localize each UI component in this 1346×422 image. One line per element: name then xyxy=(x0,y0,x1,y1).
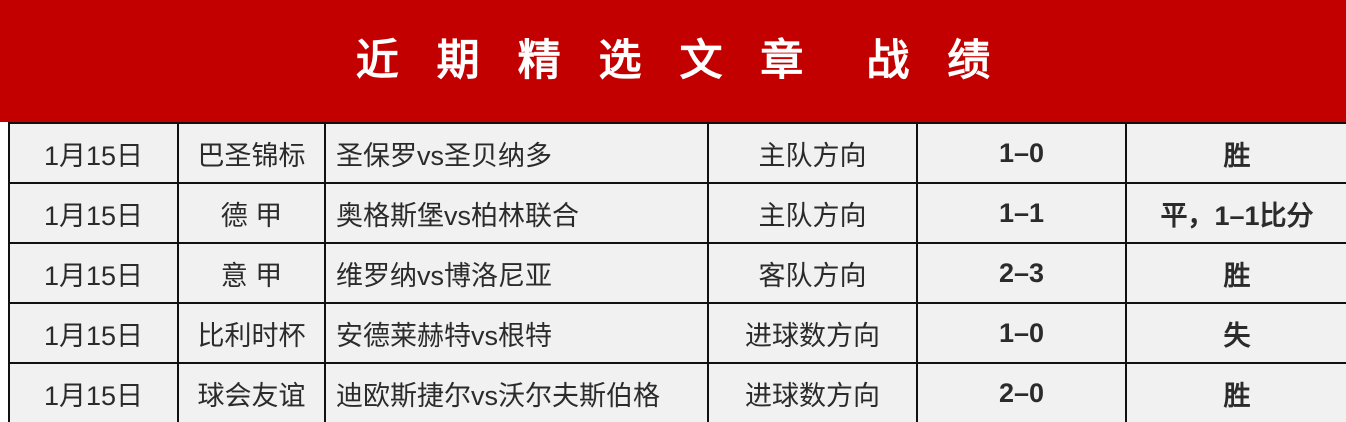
cell-date: 1月15日 xyxy=(9,303,178,363)
cell-result: 胜 xyxy=(1126,243,1346,303)
results-table: 1月15日 巴圣锦标 圣保罗vs圣贝纳多 主队方向 1–0 胜 1月15日 德 … xyxy=(8,122,1346,422)
cell-league: 德 甲 xyxy=(178,183,325,243)
cell-result: 平，1–1比分 xyxy=(1126,183,1346,243)
cell-match: 奥格斯堡vs柏林联合 xyxy=(325,183,708,243)
cell-result: 失 xyxy=(1126,303,1346,363)
cell-league: 比利时杯 xyxy=(178,303,325,363)
cell-league: 球会友谊 xyxy=(178,363,325,422)
cell-league: 意 甲 xyxy=(178,243,325,303)
page-title: 近 期 精 选 文 章 战 绩 xyxy=(343,40,1004,83)
page-banner: 近 期 精 选 文 章 战 绩 xyxy=(0,0,1346,122)
results-table-container: 1月15日 巴圣锦标 圣保罗vs圣贝纳多 主队方向 1–0 胜 1月15日 德 … xyxy=(8,122,1346,422)
table-row: 1月15日 比利时杯 安德莱赫特vs根特 进球数方向 1–0 失 xyxy=(9,303,1346,363)
cell-date: 1月15日 xyxy=(9,243,178,303)
cell-match: 安德莱赫特vs根特 xyxy=(325,303,708,363)
table-row: 1月15日 球会友谊 迪欧斯捷尔vs沃尔夫斯伯格 进球数方向 2–0 胜 xyxy=(9,363,1346,422)
cell-score: 1–0 xyxy=(917,123,1126,183)
table-row: 1月15日 巴圣锦标 圣保罗vs圣贝纳多 主队方向 1–0 胜 xyxy=(9,123,1346,183)
table-row: 1月15日 德 甲 奥格斯堡vs柏林联合 主队方向 1–1 平，1–1比分 xyxy=(9,183,1346,243)
cell-direction: 主队方向 xyxy=(708,123,917,183)
cell-score: 2–3 xyxy=(917,243,1126,303)
cell-direction: 进球数方向 xyxy=(708,363,917,422)
cell-date: 1月15日 xyxy=(9,363,178,422)
cell-direction: 客队方向 xyxy=(708,243,917,303)
cell-date: 1月15日 xyxy=(9,183,178,243)
results-table-body: 1月15日 巴圣锦标 圣保罗vs圣贝纳多 主队方向 1–0 胜 1月15日 德 … xyxy=(9,123,1346,422)
cell-direction: 主队方向 xyxy=(708,183,917,243)
cell-match: 迪欧斯捷尔vs沃尔夫斯伯格 xyxy=(325,363,708,422)
results-screen: 近 期 精 选 文 章 战 绩 1月15日 巴圣锦标 圣保罗vs圣贝纳多 主队方… xyxy=(0,0,1346,422)
cell-result: 胜 xyxy=(1126,123,1346,183)
cell-score: 1–1 xyxy=(917,183,1126,243)
cell-league: 巴圣锦标 xyxy=(178,123,325,183)
table-row: 1月15日 意 甲 维罗纳vs博洛尼亚 客队方向 2–3 胜 xyxy=(9,243,1346,303)
cell-score: 2–0 xyxy=(917,363,1126,422)
cell-date: 1月15日 xyxy=(9,123,178,183)
cell-direction: 进球数方向 xyxy=(708,303,917,363)
cell-result: 胜 xyxy=(1126,363,1346,422)
cell-match: 圣保罗vs圣贝纳多 xyxy=(325,123,708,183)
cell-match: 维罗纳vs博洛尼亚 xyxy=(325,243,708,303)
cell-score: 1–0 xyxy=(917,303,1126,363)
